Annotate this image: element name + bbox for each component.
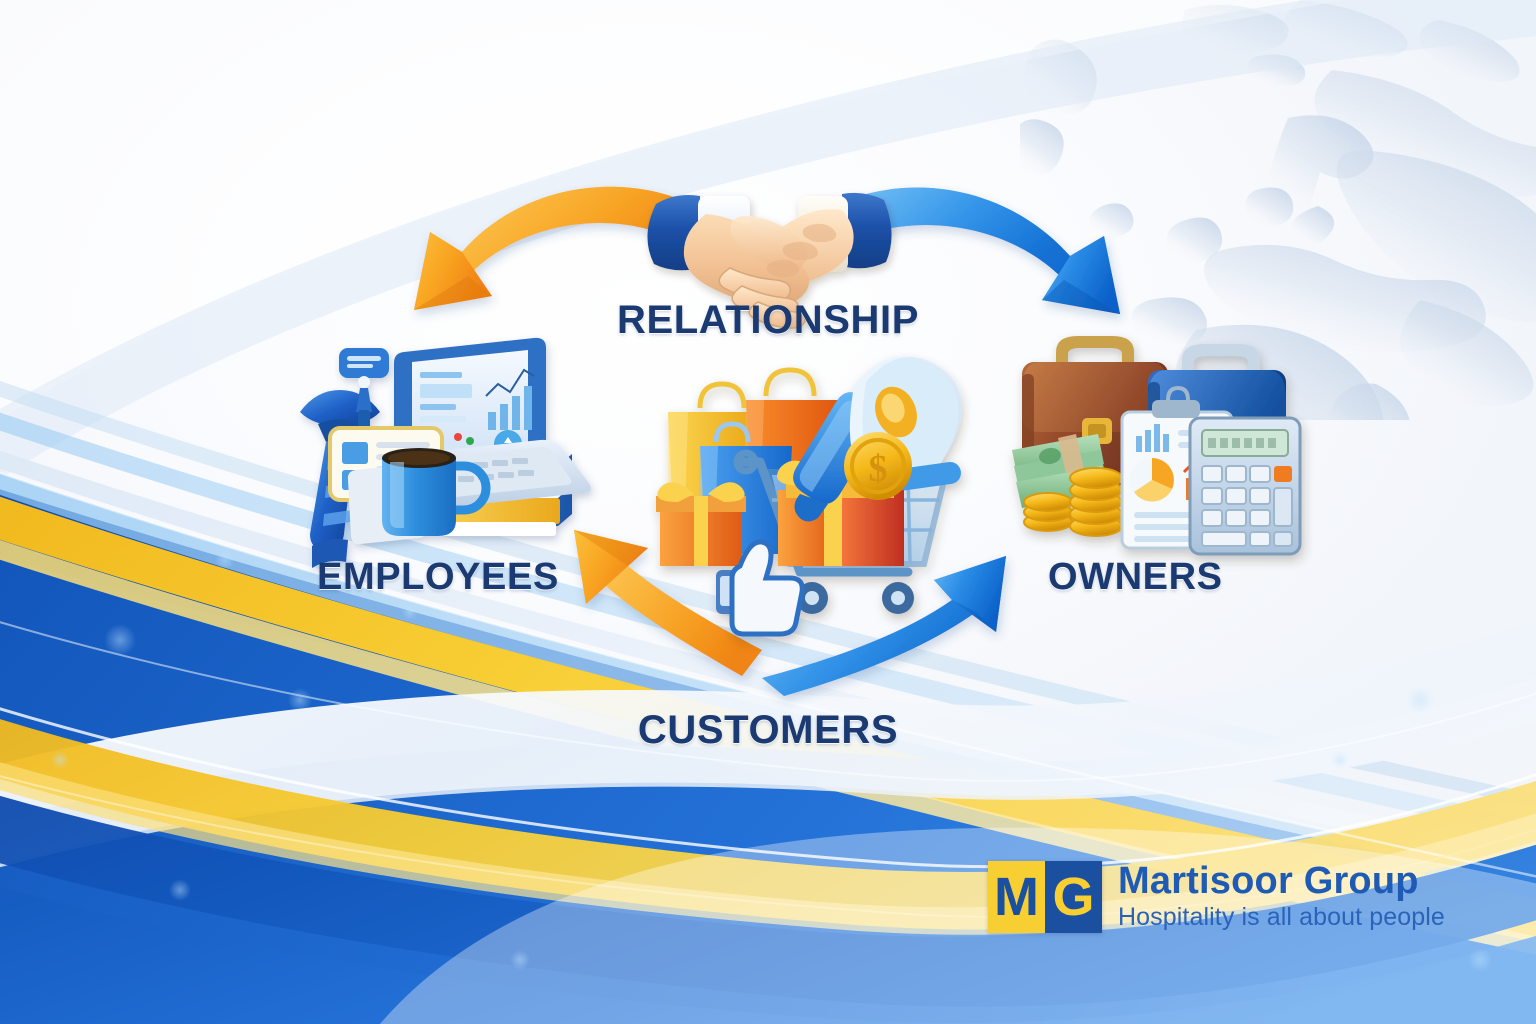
- logo-letter-m: M: [988, 861, 1045, 933]
- label-employees: EMPLOYEES: [317, 556, 559, 599]
- label-owners: OWNERS: [1048, 556, 1223, 599]
- label-customers: CUSTOMERS: [638, 708, 898, 753]
- calculator-icon: [1190, 418, 1300, 554]
- logo-letter-g: G: [1045, 861, 1102, 933]
- label-relationship: RELATIONSHIP: [617, 298, 919, 343]
- poster-canvas: $: [0, 0, 1536, 1024]
- brand-name: Martisoor Group: [1118, 862, 1445, 901]
- logo-text-block: Martisoor Group Hospitality is all about…: [1118, 862, 1445, 932]
- logo-mark: M G: [988, 861, 1102, 933]
- brand-logo: M G Martisoor Group Hospitality is all a…: [988, 861, 1445, 933]
- brand-tagline: Hospitality is all about people: [1118, 903, 1445, 932]
